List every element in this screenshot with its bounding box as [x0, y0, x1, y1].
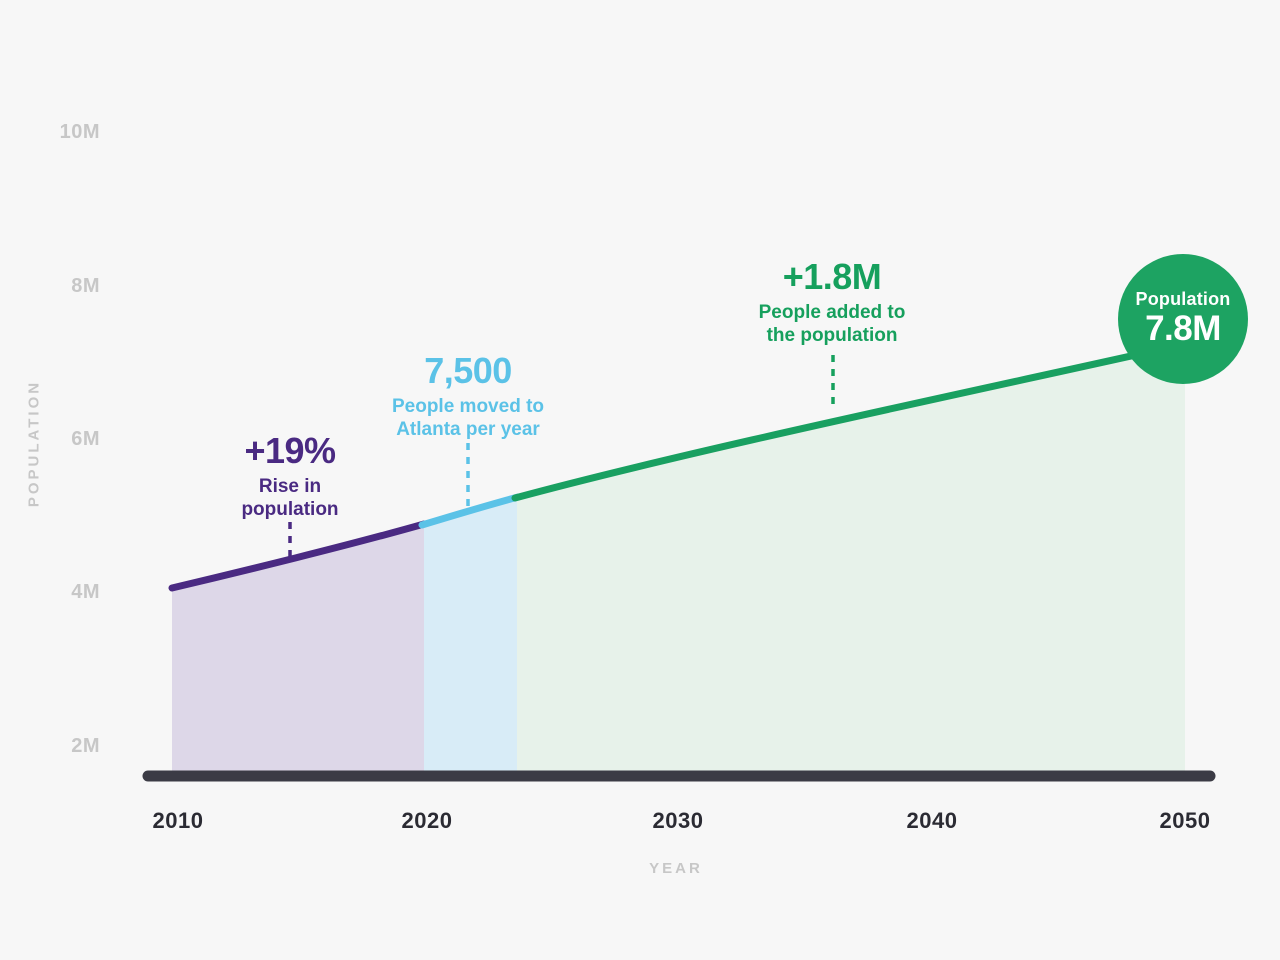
annotation-people-moved: 7,500 People moved to Atlanta per year	[368, 352, 568, 441]
area-green-segment	[517, 344, 1185, 775]
annotation-green-caption: People added to the population	[730, 302, 934, 348]
annotation-blue-caption: People moved to Atlanta per year	[368, 396, 568, 442]
annotation-purple-caption: Rise in population	[190, 476, 390, 522]
x-axis-title: YEAR	[616, 860, 736, 877]
x-axis-tick-2030: 2030	[618, 808, 738, 834]
x-axis-tick-2010: 2010	[118, 808, 238, 834]
annotation-people-added: +1.8M People added to the population	[730, 258, 934, 347]
area-purple-segment	[172, 524, 424, 775]
x-axis-tick-2020: 2020	[367, 808, 487, 834]
x-axis-tick-2040: 2040	[872, 808, 992, 834]
annotation-green-caption-line1: People added to	[759, 302, 906, 323]
y-axis-title: POPULATION	[26, 364, 43, 524]
y-axis-tick-10m: 10M	[30, 121, 100, 144]
badge-value: 7.8M	[1145, 310, 1221, 349]
y-axis-tick-2m: 2M	[30, 735, 100, 758]
area-blue-segment	[424, 497, 517, 775]
annotation-blue-caption-line1: People moved to	[392, 396, 544, 417]
annotation-blue-caption-line2: Atlanta per year	[396, 419, 540, 440]
y-axis-tick-4m: 4M	[30, 581, 100, 604]
annotation-rise-in-population: +19% Rise in population	[190, 432, 390, 521]
badge-label: Population	[1136, 290, 1231, 308]
annotation-green-caption-line2: the population	[767, 325, 898, 346]
annotation-purple-caption-line2: population	[241, 499, 338, 520]
x-axis-tick-2050: 2050	[1125, 808, 1245, 834]
y-axis-tick-8m: 8M	[30, 275, 100, 298]
population-endpoint-badge: Population 7.8M	[1118, 254, 1248, 384]
chart-root: 10M 8M 6M 4M 2M POPULATION 2010 2020 203…	[0, 0, 1280, 960]
annotation-purple-value: +19%	[190, 432, 390, 470]
annotation-purple-caption-line1: Rise in	[259, 476, 321, 497]
annotation-green-value: +1.8M	[730, 258, 934, 296]
annotation-blue-value: 7,500	[368, 352, 568, 390]
